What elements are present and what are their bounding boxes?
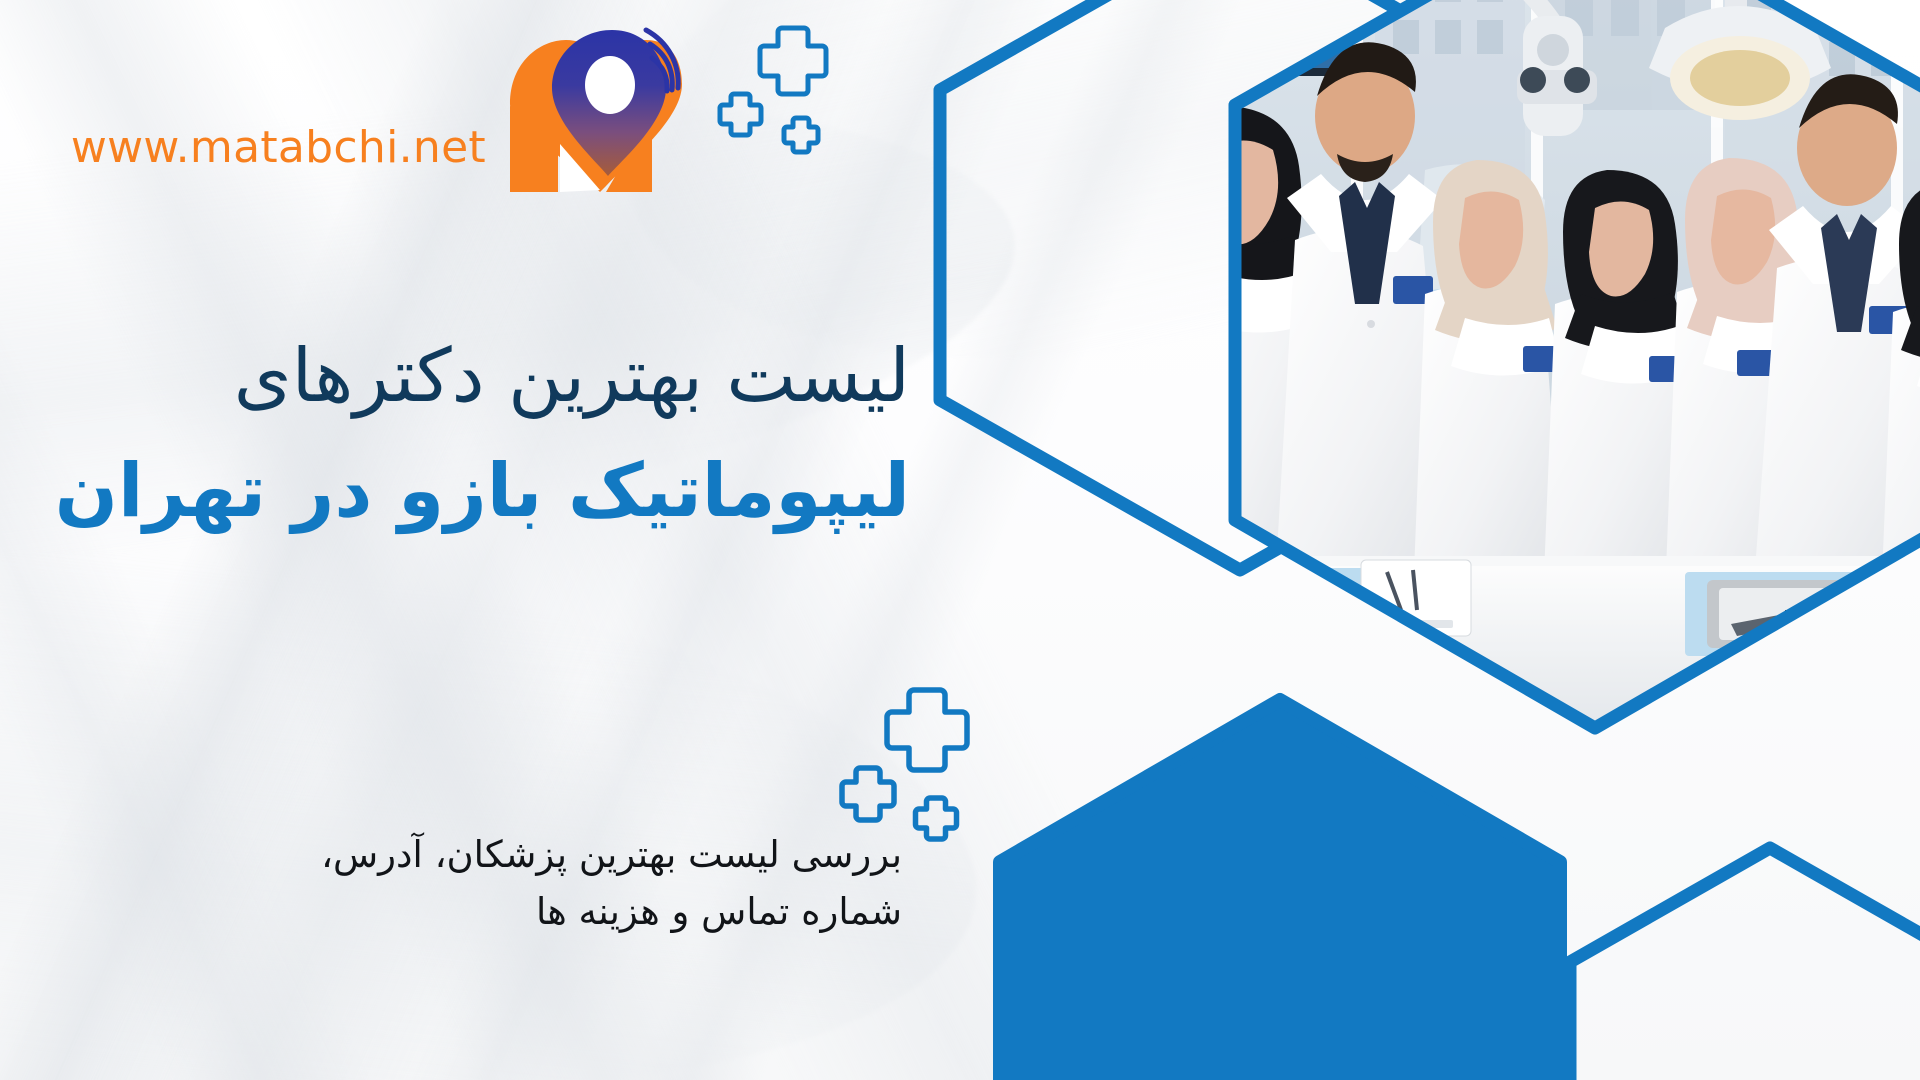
hexagon-filled-bottom <box>980 690 1600 1080</box>
subtitle-line-1: بررسی لیست بهترین پزشکان، آدرس، <box>202 826 902 883</box>
medical-team-photo <box>1125 0 1920 780</box>
cross-cluster-top <box>710 20 870 170</box>
website-url[interactable]: www.matabchi.net <box>71 122 486 197</box>
medical-cross-icon <box>887 690 967 770</box>
subtitle-block: بررسی لیست بهترین پزشکان، آدرس، شماره تم… <box>202 826 902 941</box>
medical-cross-icon <box>842 768 894 820</box>
headline-block: لیست بهترین دکترهای لیپوماتیک بازو در ته… <box>30 330 910 539</box>
medical-cross-icon <box>916 798 957 839</box>
brand-logo[interactable]: www.matabchi.net <box>30 12 690 197</box>
location-pin-heart-logo-icon <box>500 22 690 197</box>
banner-canvas: www.matabchi.net لیست بهترین دکترهای لیپ… <box>0 0 1920 1080</box>
headline-line-1: لیست بهترین دکترهای <box>30 330 910 423</box>
medical-cross-icon <box>720 94 761 135</box>
hexagon-outline-bottom-right <box>1540 830 1920 1080</box>
headline-line-2: لیپوماتیک بازو در تهران <box>30 443 910 539</box>
medical-cross-icon <box>784 118 818 152</box>
subtitle-line-2: شماره تماس و هزینه ها <box>202 883 902 940</box>
medical-cross-icon <box>760 28 826 94</box>
